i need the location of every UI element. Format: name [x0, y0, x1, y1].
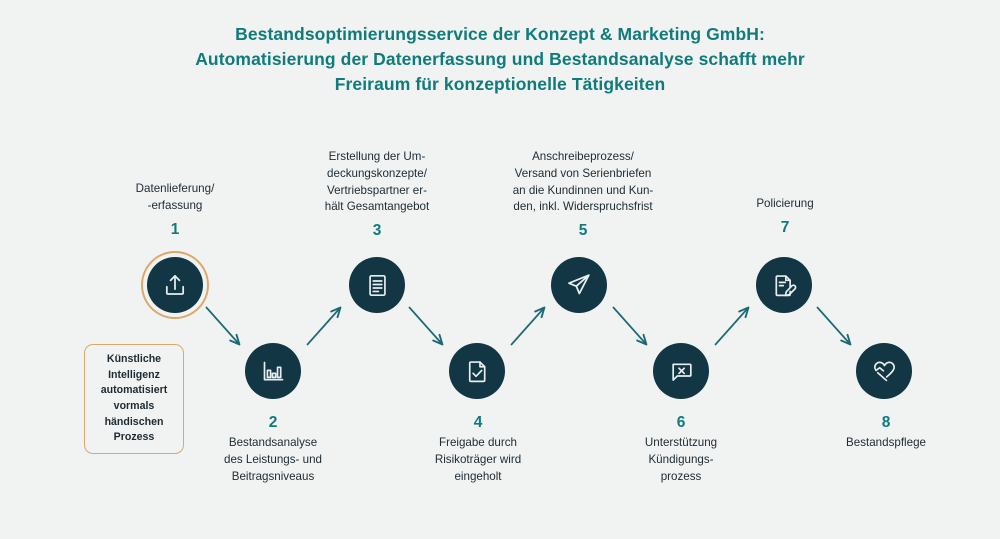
- step-node-4[interactable]: [449, 343, 505, 399]
- title-line-1: Bestandsoptimierungsservice der Konzept …: [0, 22, 1000, 47]
- step-number-4: 4: [398, 411, 558, 434]
- document-pen-icon: [771, 272, 798, 299]
- ai-note-text: Künstliche Intelligenz automatisiert vor…: [89, 352, 179, 446]
- step-label-5: Anschreibeprozess/Versand von Serienbrie…: [483, 149, 683, 216]
- title-line-2: Automatisierung der Datenerfassung und B…: [0, 47, 1000, 72]
- arrow-4-to-5: [511, 308, 544, 345]
- speech-bubble-x-icon: [668, 358, 695, 385]
- step-caption-5: Anschreibeprozess/Versand von Serienbrie…: [483, 149, 683, 242]
- document-check-icon: [464, 358, 491, 385]
- step-node-1[interactable]: [147, 257, 203, 313]
- step-label-1: Datenlieferung/-erfassung: [95, 181, 255, 215]
- step-number-2: 2: [191, 411, 355, 434]
- step-node-6[interactable]: [653, 343, 709, 399]
- step-label-4: Freigabe durchRisikoträger wirdeingeholt: [398, 435, 558, 485]
- step-caption-8: 8 Bestandspflege: [806, 411, 966, 452]
- step-caption-7: Policierung 7: [715, 196, 855, 239]
- document-lines-icon: [364, 272, 391, 299]
- step-node-2[interactable]: [245, 343, 301, 399]
- ai-note-box: Künstliche Intelligenz automatisiert vor…: [84, 344, 184, 454]
- step-number-6: 6: [601, 411, 761, 434]
- step-number-5: 5: [483, 219, 683, 242]
- arrow-3-to-4: [409, 307, 442, 344]
- arrow-7-to-8: [817, 307, 850, 344]
- step-label-3: Erstellung der Um-deckungskonzepte/Vertr…: [292, 149, 462, 216]
- arrow-1-to-2: [206, 307, 239, 344]
- step-caption-1: Datenlieferung/-erfassung 1: [95, 181, 255, 241]
- upload-icon: [161, 271, 189, 299]
- step-caption-3: Erstellung der Um-deckungskonzepte/Vertr…: [292, 149, 462, 242]
- arrow-2-to-3: [307, 308, 340, 345]
- step-number-1: 1: [95, 218, 255, 241]
- step-number-7: 7: [715, 216, 855, 239]
- step-caption-2: 2 Bestandsanalysedes Leistungs- undBeitr…: [191, 411, 355, 486]
- step-caption-4: 4 Freigabe durchRisikoträger wirdeingeho…: [398, 411, 558, 486]
- step-label-6: UnterstützungKündigungs-prozess: [601, 435, 761, 485]
- handshake-icon: [870, 357, 899, 386]
- arrow-6-to-7: [715, 308, 748, 345]
- arrow-5-to-6: [613, 307, 646, 344]
- step-number-3: 3: [292, 219, 462, 242]
- step-label-2: Bestandsanalysedes Leistungs- undBeitrag…: [191, 435, 355, 485]
- step-number-8: 8: [806, 411, 966, 434]
- paper-plane-icon: [565, 271, 593, 299]
- title-line-3: Freiraum für konzeptionelle Tätigkeiten: [0, 72, 1000, 97]
- step-node-3[interactable]: [349, 257, 405, 313]
- step-caption-6: 6 UnterstützungKündigungs-prozess: [601, 411, 761, 486]
- infographic-canvas: Bestandsoptimierungsservice der Konzept …: [0, 0, 1000, 539]
- step-label-8: Bestandspflege: [806, 435, 966, 452]
- page-title: Bestandsoptimierungsservice der Konzept …: [0, 22, 1000, 97]
- step-label-7: Policierung: [715, 196, 855, 213]
- step-node-7[interactable]: [756, 257, 812, 313]
- bar-chart-icon: [260, 358, 287, 385]
- step-node-5[interactable]: [551, 257, 607, 313]
- step-node-8[interactable]: [856, 343, 912, 399]
